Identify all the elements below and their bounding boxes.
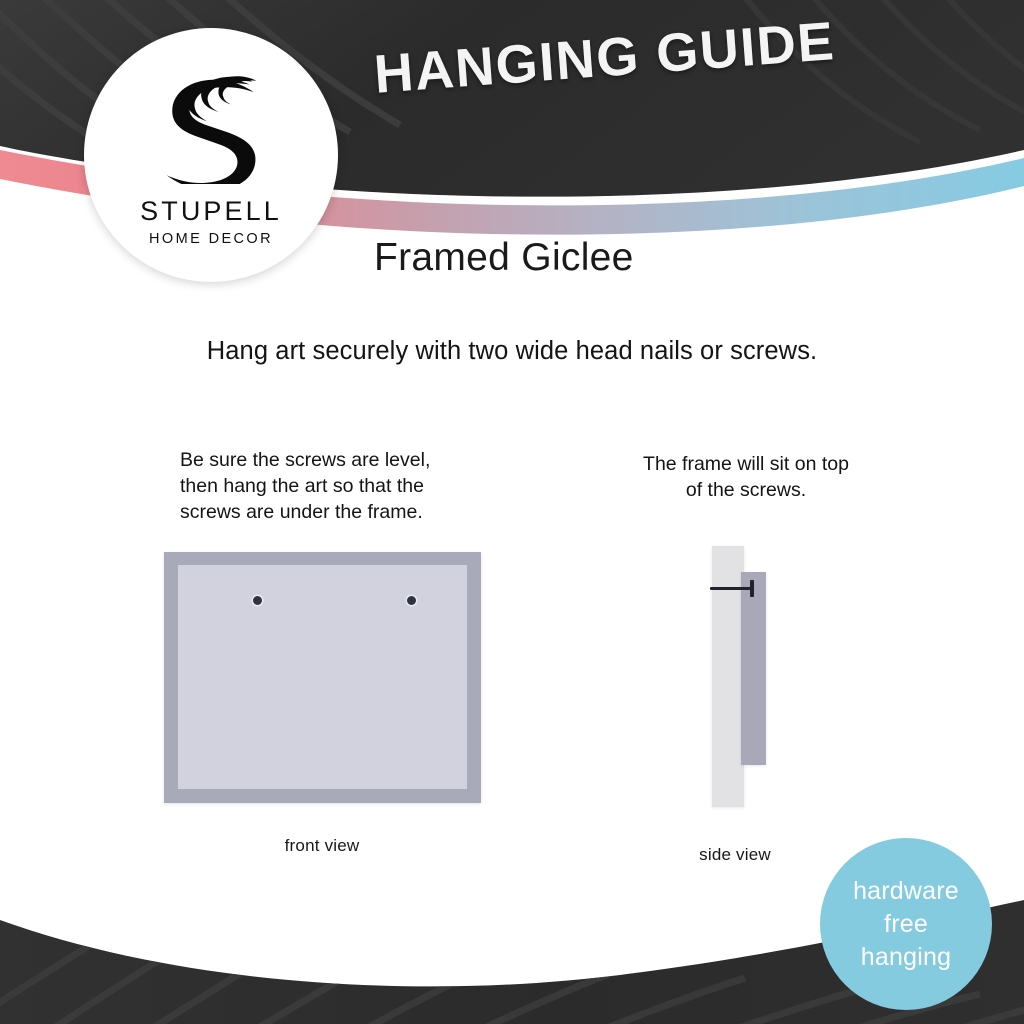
badge-line-1: hardware bbox=[853, 875, 959, 908]
nail-head-icon bbox=[750, 580, 754, 597]
side-view-caption-line-2: of the screws. bbox=[596, 477, 896, 503]
badge-line-3: hanging bbox=[861, 941, 951, 974]
front-view-mat bbox=[178, 565, 467, 789]
side-view-diagram bbox=[690, 540, 810, 820]
brand-name: STUPELL bbox=[140, 196, 282, 227]
side-view-caption: The frame will sit on top of the screws. bbox=[596, 451, 896, 503]
side-view-label: side view bbox=[655, 845, 815, 865]
stupell-swirl-s-logo-icon bbox=[159, 72, 263, 184]
product-type-heading: Framed Giclee bbox=[374, 236, 634, 280]
hanging-guide-infographic: STUPELL HOME DECOR HANGING GUIDE Framed … bbox=[0, 0, 1024, 1024]
hardware-free-hanging-badge: hardware free hanging bbox=[820, 838, 992, 1010]
badge-line-2: free bbox=[884, 908, 928, 941]
front-view-caption: Be sure the screws are level, then hang … bbox=[180, 447, 480, 525]
front-view-frame-diagram bbox=[164, 552, 481, 803]
main-instruction-text: Hang art securely with two wide head nai… bbox=[0, 337, 1024, 366]
page-title: HANGING GUIDE bbox=[372, 10, 837, 106]
front-view-caption-line-1: Be sure the screws are level, bbox=[180, 447, 480, 473]
front-view-caption-line-3: screws are under the frame. bbox=[180, 499, 480, 525]
side-view-wall bbox=[712, 546, 744, 807]
front-view-label: front view bbox=[163, 836, 481, 856]
side-view-frame-block bbox=[741, 572, 766, 765]
front-view-caption-line-2: then hang the art so that the bbox=[180, 473, 480, 499]
brand-tagline: HOME DECOR bbox=[149, 231, 273, 247]
screw-dot-right bbox=[407, 596, 416, 605]
brand-logo-badge: STUPELL HOME DECOR bbox=[84, 28, 338, 282]
screw-dot-left bbox=[253, 596, 262, 605]
side-view-caption-line-1: The frame will sit on top bbox=[596, 451, 896, 477]
nail-shaft-icon bbox=[710, 587, 752, 590]
